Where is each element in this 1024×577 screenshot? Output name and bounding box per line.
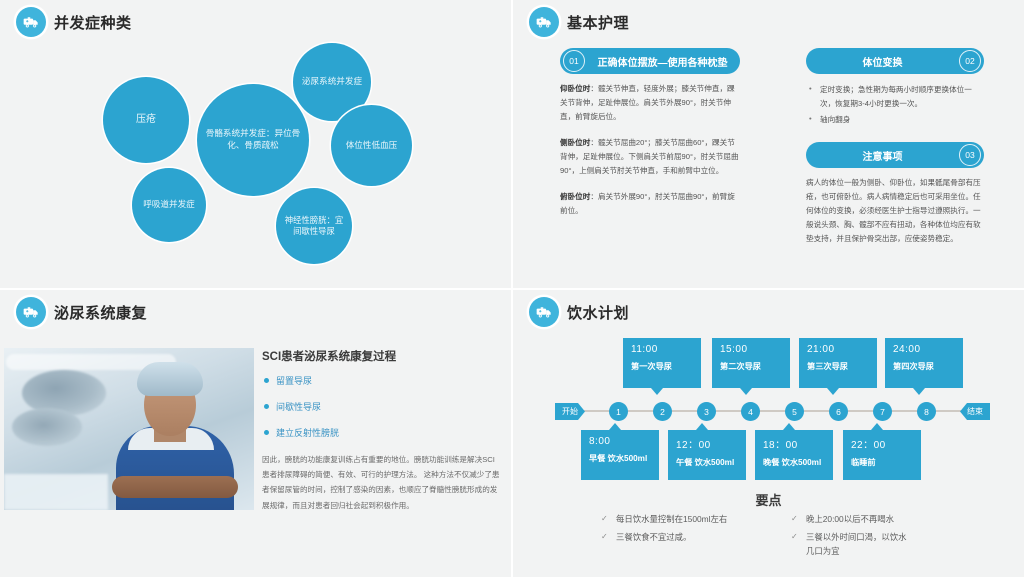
paragraph-lead: 侧卧位时 [560,138,590,147]
card-heading: 注意事项 [806,148,959,163]
surgeon-photo [4,348,254,510]
box-time: 8:00 [581,430,659,447]
ambulance-icon [16,297,46,327]
list-item: 定时变换；急性期为每两小时顺序更换体位一次，恢复期3-4小时更换一次。 [806,83,984,111]
panel-title: 并发症种类 [54,12,132,33]
ambulance-icon [529,7,559,37]
list-item: 三餐以外时间口渴，以饮水 几口为宜 [791,530,981,559]
box-label: 早餐 饮水500ml [581,447,659,464]
list-item: 轴向翻身 [806,113,984,127]
card-number: 01 [563,50,585,72]
panel-complications: 并发症种类 泌尿系统并发症 压疮 骨骼系统并发症：异位骨化、骨质疏松 体位性低血… [0,0,511,288]
drink-box-2[interactable]: 12：00 午餐 饮水500ml [668,430,746,480]
panel-header-urinary: 泌尿系统康复 [16,297,147,327]
care-card-02-header[interactable]: 体位变换 02 [806,48,984,74]
pointer-tip [827,388,839,395]
care-card-03-body: 病人的体位一般为侧卧、仰卧位，如果骶尾骨部有压疮，也可俯卧位。病人病情稳定后也可… [806,176,984,246]
slide-grid: 并发症种类 泌尿系统并发症 压疮 骨骼系统并发症：异位骨化、骨质疏松 体位性低血… [0,0,1024,577]
care-paragraph: 病人的体位一般为侧卧、仰卧位，如果骶尾骨部有压疮，也可俯卧位。病人病情稳定后也可… [806,176,984,246]
keypoints-left-column: 每日饮水量控制在1500ml左右 三餐饮食不宜过咸。 [601,512,781,547]
timeline-node-3[interactable]: 3 [697,402,716,421]
timeline-node-2[interactable]: 2 [653,402,672,421]
panel-title: 基本护理 [567,12,629,33]
ambulance-icon [16,7,46,37]
list-item[interactable]: 留置导尿 [262,374,502,387]
list-item[interactable]: 间歇性导尿 [262,400,502,413]
timeline-track [568,410,968,412]
paragraph-lead: 俯卧位时 [560,192,590,201]
timeline-node-4[interactable]: 4 [741,402,760,421]
card-heading: 正确体位摆放—使用各种枕垫 [585,54,740,69]
keypoints-title: 要点 [513,490,1024,509]
panel-header-water-plan: 饮水计划 [529,297,629,327]
catheter-box-3[interactable]: 21:00 第三次导尿 [799,338,877,388]
care-paragraph: 仰卧位时：髋关节伸直，轻度外展；膝关节伸直，踝关节背伸，足趾伸展位。肩关节外展9… [560,82,740,124]
panel-title: 饮水计划 [567,302,629,323]
photo-tray [4,474,108,510]
bubble-neurogenic-bladder[interactable]: 神经性膀胱：宜间歇性导尿 [276,188,352,264]
panel-basic-care: 基本护理 01 正确体位摆放—使用各种枕垫 仰卧位时：髋关节伸直，轻度外展；膝关… [513,0,1024,288]
pointer-tip [783,423,795,430]
timeline-node-5[interactable]: 5 [785,402,804,421]
care-card-03-header[interactable]: 注意事项 03 [806,142,984,168]
bubble-respiratory[interactable]: 呼吸道并发症 [132,168,206,242]
box-time: 15:00 [712,338,790,355]
timeline-node-6[interactable]: 6 [829,402,848,421]
catheter-box-1[interactable]: 11:00 第一次导尿 [623,338,701,388]
pointer-tip [609,423,621,430]
box-time: 12：00 [668,430,746,451]
pointer-tip [913,388,925,395]
card-number: 03 [959,144,981,166]
care-card-01-header[interactable]: 01 正确体位摆放—使用各种枕垫 [560,48,740,74]
drink-box-1[interactable]: 8:00 早餐 饮水500ml [581,430,659,480]
urinary-subtitle: SCI患者泌尿系统康复过程 [262,348,502,364]
urinary-step-list: 留置导尿 间歇性导尿 建立反射性膀胱 [262,374,502,439]
care-card-01: 01 正确体位摆放—使用各种枕垫 仰卧位时：髋关节伸直，轻度外展；膝关节伸直，踝… [560,48,740,230]
care-paragraph: 侧卧位时：髋关节屈曲20°；膝关节屈曲60°，踝关节背伸，足趾伸展位。下侧肩关节… [560,136,740,178]
box-label: 第一次导尿 [623,355,701,372]
bubble-pressure-ulcer[interactable]: 压疮 [103,77,189,163]
timeline-start-label: 开始 [555,403,585,420]
box-label: 第三次导尿 [799,355,877,372]
timeline-node-1[interactable]: 1 [609,402,628,421]
panel-header-complications: 并发症种类 [16,7,132,37]
timeline-node-8[interactable]: 8 [917,402,936,421]
box-time: 18：00 [755,430,833,451]
bubble-hypotension[interactable]: 体位性低血压 [331,105,412,186]
care-card-02-bullets: 定时变换；急性期为每两小时顺序更换体位一次，恢复期3-4小时更换一次。 轴向翻身 [806,83,984,127]
pointer-tip [651,388,663,395]
ambulance-icon [529,297,559,327]
timeline-node-7[interactable]: 7 [873,402,892,421]
box-label: 临睡前 [843,451,921,468]
care-card-03: 注意事项 03 病人的体位一般为侧卧、仰卧位，如果骶尾骨部有压疮，也可俯卧位。病… [806,142,984,246]
box-label: 晚餐 饮水500ml [755,451,833,468]
bubble-skeletal[interactable]: 骨骼系统并发症：异位骨化、骨质疏松 [197,84,309,196]
pointer-tip [740,388,752,395]
care-card-01-body: 仰卧位时：髋关节伸直，轻度外展；膝关节伸直，踝关节背伸，足趾伸展位。肩关节外展9… [560,82,740,218]
horizontal-divider [0,288,1024,290]
box-time: 11:00 [623,338,701,355]
panel-water-plan: 饮水计划 11:00 第一次导尿 15:00 第二次导尿 21:00 第三次导尿… [513,290,1024,577]
list-item: 晚上20:00以后不再喝水 [791,512,981,527]
care-paragraph: 俯卧位时：肩关节外展90°，肘关节屈曲90°，前臂旋前位。 [560,190,740,218]
box-label: 第四次导尿 [885,355,963,372]
timeline-end-label: 结束 [960,403,990,420]
photo-surgical-lamp-2 [12,408,82,446]
urinary-paragraph: 因此，膀胱的功能康复训练占有重要的地位。膀胱功能训练是解决SCI患者排尿障碍的简… [262,452,502,513]
box-time: 22：00 [843,430,921,451]
photo-arms [112,476,238,498]
drink-box-4[interactable]: 22：00 临睡前 [843,430,921,480]
list-item[interactable]: 建立反射性膀胱 [262,426,502,439]
photo-surgical-cap [137,362,203,396]
box-label: 第二次导尿 [712,355,790,372]
pointer-tip [696,423,708,430]
panel-urinary-rehab: 泌尿系统康复 SCI患者泌尿系统康复过程 留置导尿 间歇性导尿 建立反射性膀胱 … [0,290,511,577]
pointer-tip [871,423,883,430]
panel-title: 泌尿系统康复 [54,302,147,323]
drink-box-3[interactable]: 18：00 晚餐 饮水500ml [755,430,833,480]
catheter-box-2[interactable]: 15:00 第二次导尿 [712,338,790,388]
list-item: 每日饮水量控制在1500ml左右 [601,512,781,527]
card-heading: 体位变换 [806,54,959,69]
paragraph-lead: 仰卧位时 [560,84,590,93]
list-item: 三餐饮食不宜过咸。 [601,530,781,545]
box-time: 21:00 [799,338,877,355]
catheter-box-4[interactable]: 24:00 第四次导尿 [885,338,963,388]
keypoints-right-column: 晚上20:00以后不再喝水 三餐以外时间口渴，以饮水 几口为宜 [791,512,981,562]
box-label: 午餐 饮水500ml [668,451,746,468]
urinary-content: SCI患者泌尿系统康复过程 留置导尿 间歇性导尿 建立反射性膀胱 因此，膀胱的功… [262,348,502,513]
card-number: 02 [959,50,981,72]
box-time: 24:00 [885,338,963,355]
care-card-02: 体位变换 02 定时变换；急性期为每两小时顺序更换体位一次，恢复期3-4小时更换… [806,48,984,129]
panel-header-basic-care: 基本护理 [529,7,629,37]
